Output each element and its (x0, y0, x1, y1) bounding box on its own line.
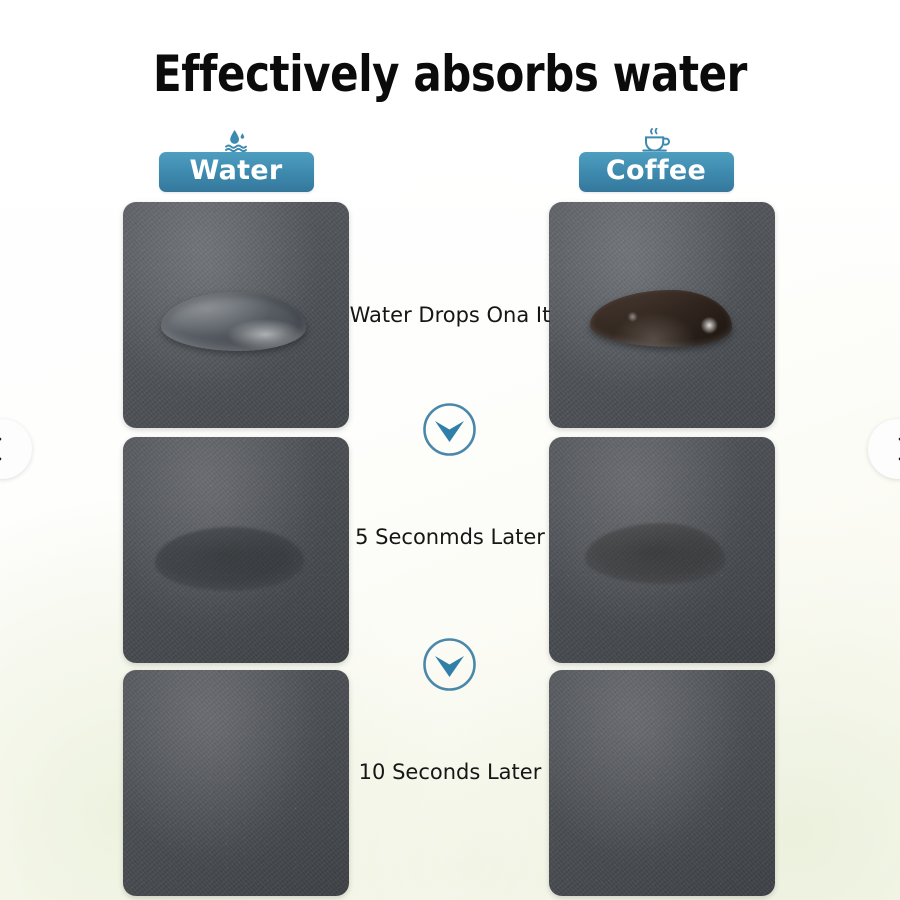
category-coffee: Coffee (531, 128, 781, 192)
swatch-water-5s (123, 437, 349, 663)
coffee-cup-icon (531, 128, 781, 152)
swatch-coffee-5s (549, 437, 775, 663)
step-label-3: 10 Seconds Later (0, 760, 900, 784)
chevron-down-circle-icon (421, 401, 478, 458)
water-drop-icon (111, 128, 361, 152)
chevron-down-circle-icon (421, 636, 478, 693)
page-title: Effectively absorbs water (72, 45, 828, 103)
chevron-left-icon (0, 436, 4, 462)
chevron-right-icon (896, 436, 900, 462)
category-badge-water: Water (159, 152, 314, 192)
step-label-1: Water Drops Ona It (0, 303, 900, 327)
product-image-slide: Effectively absorbs water Water Coffee (0, 0, 900, 900)
category-water: Water (111, 128, 361, 192)
step-label-2: 5 Seconmds Later (0, 525, 900, 549)
category-badge-coffee: Coffee (579, 152, 734, 192)
